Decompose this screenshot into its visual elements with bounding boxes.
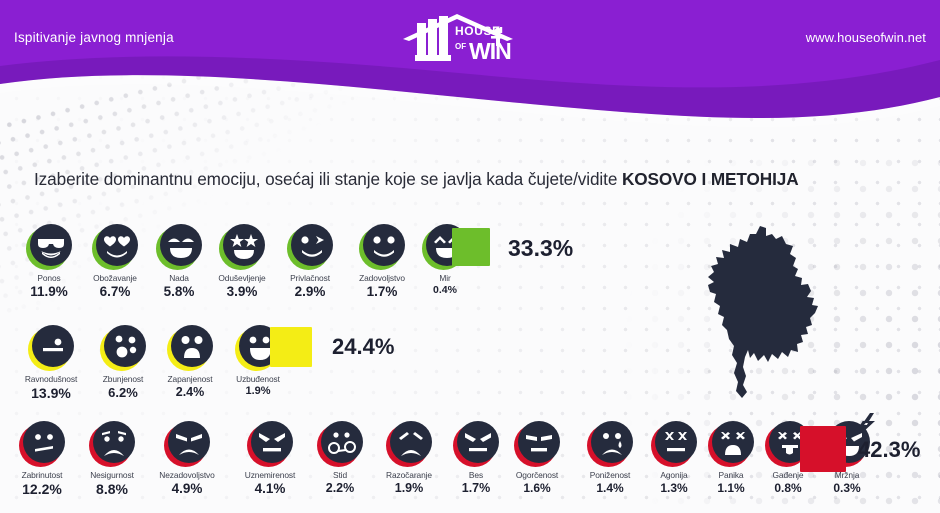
embittered-face-icon [518,421,560,463]
emoji-face-holder [651,421,697,467]
emotion-percent: 2.4% [152,385,228,399]
legend-swatch-positive [452,228,490,266]
emotion-percent: 1.9% [370,481,448,495]
infographic-page: Ispitivanje javnog mnjenja www.houseofwi… [0,0,940,513]
winking-face-icon [291,224,333,266]
humiliated-crying-face-icon [591,421,633,463]
panicked-face-icon [712,421,754,463]
house-of-win-logo[interactable]: HOUSE OF WIN [395,9,545,67]
header-website-url[interactable]: www.houseofwin.net [806,30,926,45]
emotion-label: Zapanjenost [152,374,228,384]
sunglasses-smile-face-icon [30,224,72,266]
group-total-negative: 42.3% [858,437,920,463]
group-total-neutral: 24.4% [332,334,394,360]
emoji-face-holder [219,224,265,270]
legend-swatch-negative [800,426,846,472]
emotion-percent: 12.2% [6,481,78,497]
emotion-label: Nezadovoljstvo [143,470,231,480]
emoji-face-holder [514,421,560,467]
emotion-item-zabrinutost[interactable]: Zabrinutost 12.2% [6,421,78,497]
page-title-subject: KOSOVO I METOHIJA [622,169,799,189]
emotion-label: Zadovoljstvo [338,273,426,283]
emoji-face-holder [287,224,333,270]
emotion-label: Nesigurnost [76,470,148,480]
emoji-face-holder [92,224,138,270]
emotion-item-ponizenost[interactable]: Poniženost 1.4% [573,421,647,495]
emotion-percent: 6.7% [75,284,155,299]
emotion-label: Poniženost [573,470,647,480]
star-eyes-face-icon [223,224,265,266]
emoji-face-holder [167,325,213,371]
emotion-item-uznemirenost[interactable]: Uznemirenost 4.1% [228,421,312,496]
angry-frown-face-icon [168,421,210,463]
emoji-face-holder [708,421,754,467]
emotion-label: Uznemirenost [228,470,312,480]
emotion-item-zadovoljstvo[interactable]: Zadovoljstvo 1.7% [338,224,426,299]
emotion-item-ogorcenost[interactable]: Ogorčenost 1.6% [500,421,574,495]
emotion-percent: 4.1% [228,481,312,496]
emotion-label: Ponos [16,273,82,283]
worried-flat-mouth-face-icon [23,421,65,463]
anger-bolt-icon [859,413,879,433]
emoji-face-holder [587,421,633,467]
emotion-label: Razočaranje [370,470,448,480]
emotion-item-ponos[interactable]: Ponos 11.9% [16,224,82,299]
emotion-percent: 4.9% [143,481,231,496]
emotion-item-razocaranje[interactable]: Razočaranje 1.9% [370,421,448,495]
emotion-item-stid[interactable]: Stid 2.2% [310,421,370,495]
emotion-percent: 1.1% [703,481,759,495]
emotion-percent: 1.3% [645,481,703,495]
emotion-label: Uzbuđenost [222,374,294,384]
emotion-percent: 1.9% [222,385,294,397]
emotion-group-negative: Zabrinutost 12.2% Nesigurnost 8.8% [0,421,940,506]
emoji-face-holder [359,224,405,270]
emotion-item-bes[interactable]: Bes 1.7% [450,421,502,495]
emoji-face-holder [89,421,135,467]
logo-text-of: OF [455,42,466,51]
emotion-item-zapanjenost[interactable]: Zapanjenost 2.4% [152,325,228,399]
emotion-label: Privlačnost [272,273,348,283]
emoji-face-holder [26,224,72,270]
emoji-face-holder [247,421,293,467]
grinning-closed-eyes-face-icon [160,224,202,266]
emotion-item-nesigurnost[interactable]: Nesigurnost 8.8% [76,421,148,497]
emotion-label: Bes [450,470,502,480]
disappointed-face-icon [390,421,432,463]
emotion-label: Ogorčenost [500,470,574,480]
emotion-percent: 2.2% [310,481,370,495]
kosovo-map [694,222,874,407]
emotion-percent: 0.3% [818,481,876,495]
emotion-label: Panika [703,470,759,480]
emoji-face-holder [28,325,74,371]
emotion-percent: 11.9% [16,284,82,299]
emotion-percent: 2.9% [272,284,348,299]
emotion-item-obozavanje[interactable]: Obožavanje 6.7% [75,224,155,299]
emotion-percent: 0.8% [757,481,819,495]
emoji-face-holder [386,421,432,467]
header-subtitle: Ispitivanje javnog mnjenja [14,30,174,45]
emotion-item-ravnodusnost[interactable]: Ravnodušnost 13.9% [12,325,90,401]
emotion-label: Zbunjenost [88,374,158,384]
emotion-group-positive: Ponos 11.9% Obožavanje 6.7% [0,224,660,304]
upset-angry-face-icon [251,421,293,463]
emotion-percent: 6.2% [88,385,158,400]
heart-eyes-face-icon [96,224,138,266]
legend-swatch-neutral [270,327,312,367]
emotion-percent: 1.4% [573,481,647,495]
confused-face-icon [104,325,146,367]
emoji-face-holder [453,421,499,467]
page-title: Izaberite dominantnu emociju, osećaj ili… [34,169,799,190]
dead-x-eyes-face-icon [655,421,697,463]
logo-text-house: HOUSE [455,24,501,38]
emotion-percent: 1.7% [338,284,426,299]
emotion-percent: 1.7% [450,481,502,495]
emoji-face-holder [19,421,65,467]
emoji-face-holder [317,421,363,467]
emotion-item-zbunjenost[interactable]: Zbunjenost 6.2% [88,325,158,400]
emotion-percent: 13.9% [12,385,90,401]
ashamed-looking-down-face-icon [321,421,363,463]
emoji-face-holder [164,421,210,467]
emotion-percent: 8.8% [76,481,148,497]
emotion-item-nezadovoljstvo[interactable]: Nezadovoljstvo 4.9% [143,421,231,496]
emotion-label: Stid [310,470,370,480]
emotion-label: Zabrinutost [6,470,78,480]
smiling-face-icon [363,224,405,266]
page-header: Ispitivanje javnog mnjenja www.houseofwi… [0,0,940,132]
emotion-label: Agonija [645,470,703,480]
emotion-item-agonija[interactable]: Agonija 1.3% [645,421,703,495]
emotion-item-privlacnost[interactable]: Privlačnost 2.9% [272,224,348,299]
emotion-label: Mir [417,273,473,283]
insecure-sad-face-icon [93,421,135,463]
astonished-face-icon [171,325,213,367]
emotion-item-panika[interactable]: Panika 1.1% [703,421,759,495]
logo-text-win: WIN [469,38,511,64]
neutral-flat-face-icon [32,325,74,367]
emoji-face-holder [100,325,146,371]
page-title-lead: Izaberite dominantnu emociju, osećaj ili… [34,169,622,189]
emotion-label: Obožavanje [75,273,155,283]
group-total-positive: 33.3% [508,235,573,262]
emoji-face-holder [156,224,202,270]
emotion-group-neutral: Ravnodušnost 13.9% Zbunjenost 6.2% [0,325,660,405]
emotion-percent: 0.4% [417,284,473,296]
emotion-label: Ravnodušnost [12,374,90,384]
rage-face-icon [457,421,499,463]
emotion-percent: 1.6% [500,481,574,495]
